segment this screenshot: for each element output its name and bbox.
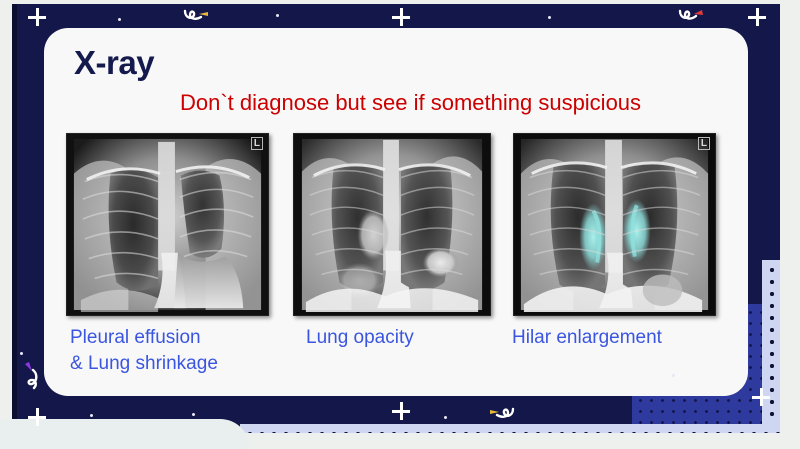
sparkle-dot [444,416,447,419]
subtitle-warning: Don`t diagnose but see if something susp… [180,90,641,116]
xray-graphic-1 [67,134,268,315]
plus-icon-top-left [28,8,46,26]
squiggle-icon-top-right [676,6,704,24]
squiggle-icon-top-left [182,6,210,24]
plus-icon-bottom-right [752,388,770,406]
sparkle-dot [672,374,675,377]
plus-icon-top-center [392,8,410,26]
xray-image-2 [293,133,491,316]
page-title: X-ray [74,44,154,82]
page-margin-right [780,0,800,449]
xray-orientation-marker-1: L [251,137,263,150]
xray-caption-1: Pleural effusion & Lung shrinkage [70,325,285,377]
sparkle-dot [276,14,279,17]
xray-caption-2: Lung opacity [306,325,506,351]
sparkle-dot [548,16,551,19]
xray-caption-3-line1: Hilar enlargement [512,325,742,351]
squiggle-icon-bottom-left [22,362,44,390]
xray-caption-3: Hilar enlargement [512,325,742,351]
xray-caption-2-line1: Lung opacity [306,325,506,351]
sparkle-dot [20,352,23,355]
xray-orientation-marker-3: L [698,137,710,150]
sparkle-dot [90,414,93,417]
sparkle-dot [192,413,195,416]
plus-icon-bottom-left [28,408,46,426]
xray-image-1: L [66,133,269,316]
xray-graphic-2 [294,134,490,315]
plus-icon-top-right [748,8,766,26]
xray-caption-1-line1: Pleural effusion [70,325,285,351]
xray-caption-1-line2: & Lung shrinkage [70,351,285,377]
plus-icon-bottom-center [392,402,410,420]
backdrop-edge-left [12,4,17,432]
slide-root: X-ray Don`t diagnose but see if somethin… [0,0,800,449]
xray-image-3: L [513,133,716,316]
xray-graphic-3 [514,134,715,315]
sparkle-dot [118,18,121,21]
squiggle-icon-bottom-center [488,404,516,422]
